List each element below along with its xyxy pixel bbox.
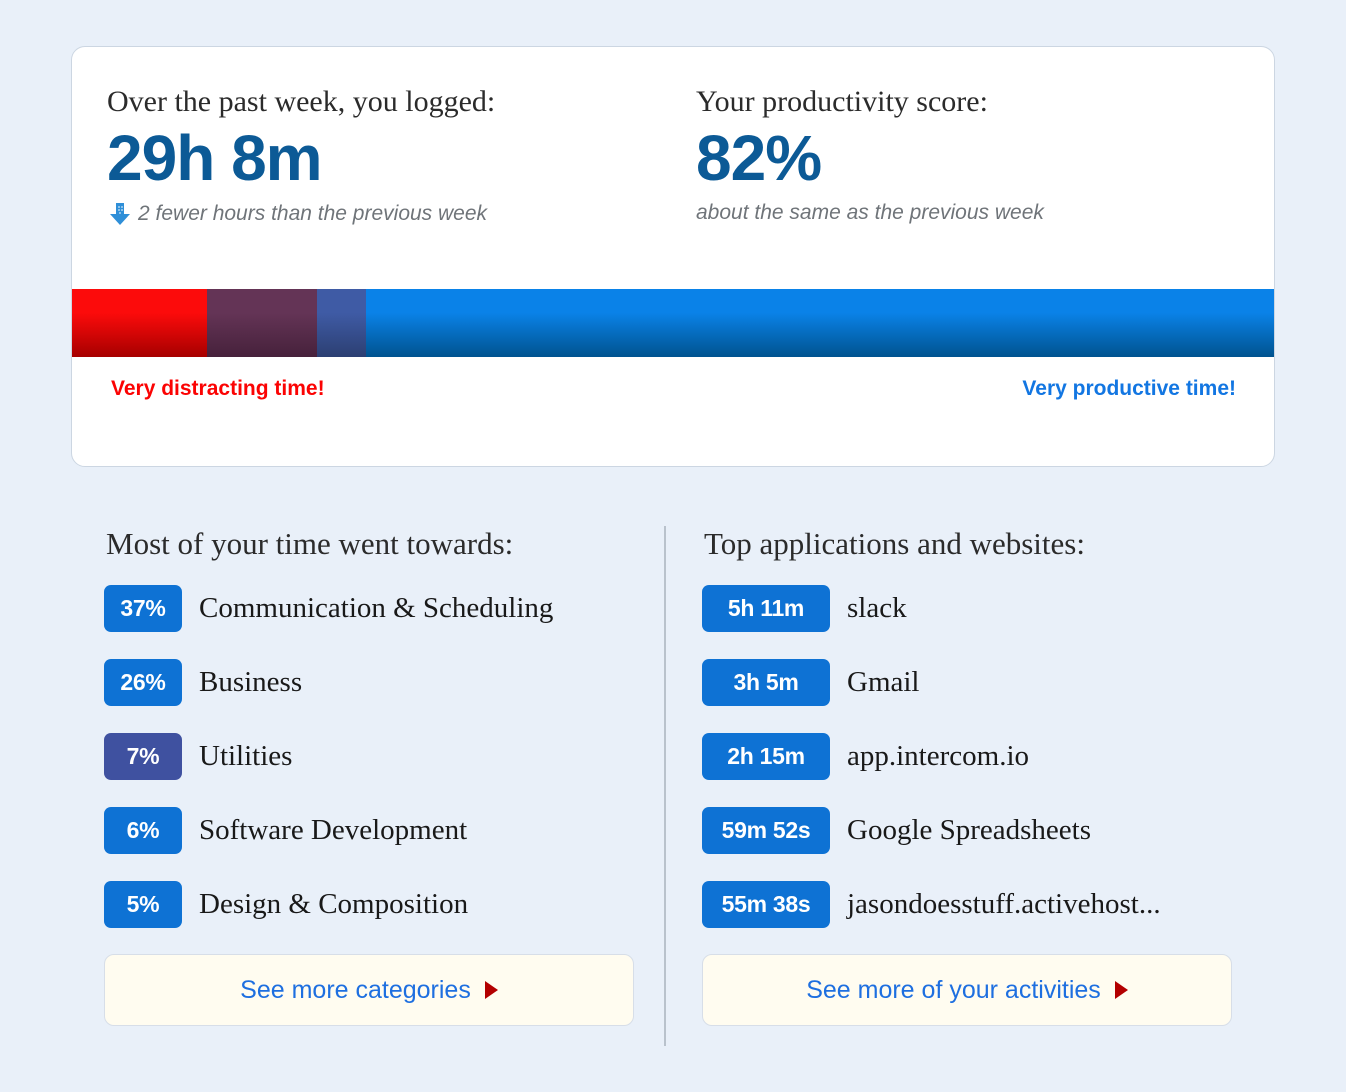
column-divider [664, 526, 666, 1046]
stats-row: Over the past week, you logged: 29h 8m [72, 47, 1274, 227]
see-more-activities-label: See more of your activities [806, 976, 1101, 1005]
item-value-badge: 7% [104, 733, 182, 780]
play-triangle-icon [485, 981, 498, 999]
bar-segment-neutral [317, 289, 366, 357]
productivity-score-delta: about the same as the previous week [696, 201, 1226, 225]
list-item[interactable]: 5h 11mslack [702, 584, 1242, 632]
bar-label-distracting: Very distracting time! [111, 377, 325, 417]
item-value-badge: 37% [104, 585, 182, 632]
list-item[interactable]: 5%Design & Composition [104, 880, 644, 928]
item-label: Design & Composition [199, 888, 468, 921]
list-item[interactable]: 55m 38sjasondoesstuff.activehost... [702, 880, 1242, 928]
activities-title: Top applications and websites: [704, 526, 1242, 562]
item-value-badge: 5h 11m [702, 585, 830, 632]
productivity-score-caption: Your productivity score: [696, 85, 1226, 120]
productivity-bar[interactable] [72, 289, 1274, 357]
categories-list: 37%Communication & Scheduling26%Business… [104, 584, 644, 928]
list-item[interactable]: 6%Software Development [104, 806, 644, 854]
arrow-down-icon [107, 201, 133, 227]
item-value-badge: 5% [104, 881, 182, 928]
categories-title: Most of your time went towards: [106, 526, 644, 562]
detail-columns: Most of your time went towards: 37%Commu… [0, 500, 1346, 1080]
bar-segment-distracting [207, 289, 318, 357]
logged-time-value: 29h 8m [107, 126, 666, 191]
item-label: Utilities [199, 740, 292, 773]
bar-segment-very-distracting [72, 289, 207, 357]
productivity-score-stat: Your productivity score: 82% about the s… [666, 85, 1226, 227]
item-label: Software Development [199, 814, 467, 847]
item-label: app.intercom.io [847, 740, 1029, 773]
item-value-badge: 3h 5m [702, 659, 830, 706]
categories-column: Most of your time went towards: 37%Commu… [104, 500, 644, 1026]
summary-card: Over the past week, you logged: 29h 8m [71, 46, 1275, 467]
productivity-bar-labels: Very distracting time! Very productive t… [72, 377, 1274, 417]
logged-time-stat: Over the past week, you logged: 29h 8m [72, 85, 666, 227]
item-label: Gmail [847, 666, 920, 699]
list-item[interactable]: 7%Utilities [104, 732, 644, 780]
bar-segment-productive [366, 289, 1274, 357]
productivity-score-value: 82% [696, 126, 1226, 191]
logged-time-delta: 2 fewer hours than the previous week [107, 201, 666, 227]
item-value-badge: 2h 15m [702, 733, 830, 780]
play-triangle-icon [1115, 981, 1128, 999]
activities-column: Top applications and websites: 5h 11msla… [702, 500, 1242, 1026]
list-item[interactable]: 59m 52sGoogle Spreadsheets [702, 806, 1242, 854]
item-value-badge: 55m 38s [702, 881, 830, 928]
list-item[interactable]: 26%Business [104, 658, 644, 706]
list-item[interactable]: 37%Communication & Scheduling [104, 584, 644, 632]
item-label: slack [847, 592, 907, 625]
list-item[interactable]: 3h 5mGmail [702, 658, 1242, 706]
item-value-badge: 59m 52s [702, 807, 830, 854]
see-more-activities-button[interactable]: See more of your activities [702, 954, 1232, 1026]
item-label: jasondoesstuff.activehost... [847, 888, 1161, 921]
see-more-categories-label: See more categories [240, 976, 471, 1005]
weekly-summary-page: Over the past week, you logged: 29h 8m [0, 0, 1346, 1092]
logged-time-delta-text: 2 fewer hours than the previous week [138, 202, 487, 226]
item-label: Business [199, 666, 302, 699]
item-value-badge: 26% [104, 659, 182, 706]
see-more-categories-button[interactable]: See more categories [104, 954, 634, 1026]
item-label: Communication & Scheduling [199, 592, 553, 625]
logged-time-caption: Over the past week, you logged: [107, 85, 666, 120]
item-value-badge: 6% [104, 807, 182, 854]
activities-list: 5h 11mslack3h 5mGmail2h 15mapp.intercom.… [702, 584, 1242, 928]
list-item[interactable]: 2h 15mapp.intercom.io [702, 732, 1242, 780]
item-label: Google Spreadsheets [847, 814, 1091, 847]
bar-label-productive: Very productive time! [1022, 377, 1236, 417]
